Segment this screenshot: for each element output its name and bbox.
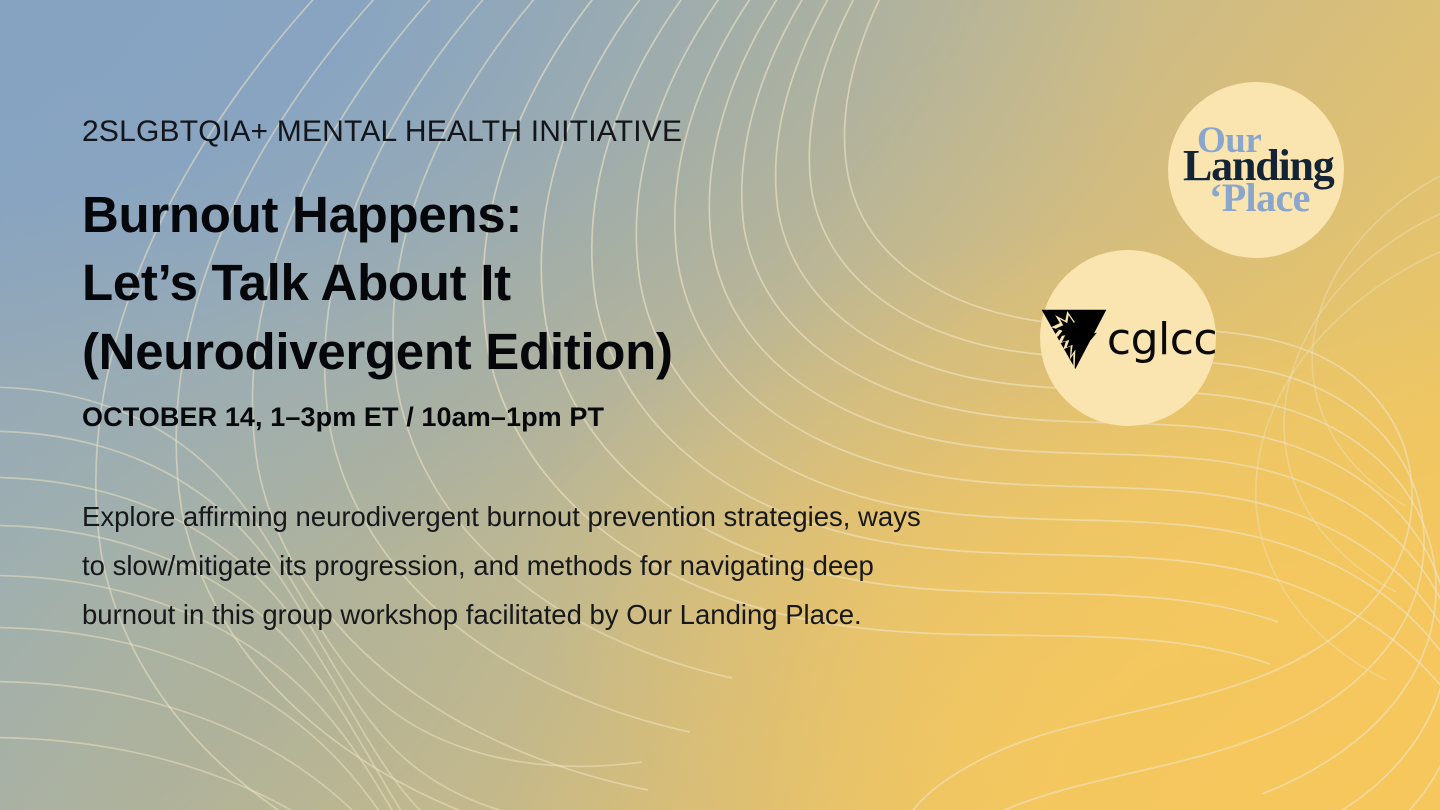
poster-text-column: 2SLGBTQIA+ MENTAL HEALTH INITIATIVE Burn… xyxy=(82,0,962,810)
headline-line-1: Burnout Happens: xyxy=(82,181,942,249)
olp-wordmark-place: ‘Place xyxy=(1209,178,1310,218)
cglcc-badge: cglcc xyxy=(1040,250,1216,426)
our-landing-place-badge: Our Landing ‘Place xyxy=(1168,82,1344,258)
eyebrow-initiative-label: 2SLGBTQIA+ MENTAL HEALTH INITIATIVE xyxy=(82,115,682,149)
event-datetime: OCTOBER 14, 1–3pm ET / 10am–1pm PT xyxy=(82,402,604,433)
event-promo-poster: 2SLGBTQIA+ MENTAL HEALTH INITIATIVE Burn… xyxy=(0,0,1440,810)
cglcc-wordmark: cglcc xyxy=(1107,318,1217,362)
event-description: Explore affirming neurodivergent burnout… xyxy=(82,492,927,640)
page-title: Burnout Happens: Let’s Talk About It (Ne… xyxy=(82,181,942,386)
our-landing-place-logo: Our Landing ‘Place xyxy=(1183,122,1329,218)
headline-line-3: (Neurodivergent Edition) xyxy=(82,318,942,386)
cglcc-logo: cglcc xyxy=(1039,307,1217,369)
headline-line-2: Let’s Talk About It xyxy=(82,249,942,317)
cglcc-maple-leaf-icon xyxy=(1039,307,1109,369)
